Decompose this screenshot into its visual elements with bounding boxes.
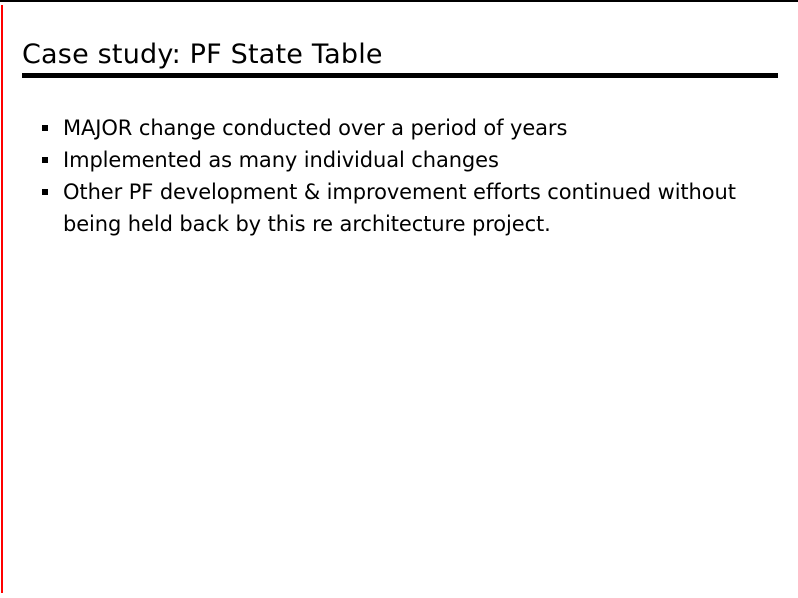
square-bullet-icon bbox=[42, 125, 48, 131]
list-item-label: MAJOR change conducted over a period of … bbox=[63, 112, 752, 144]
list-item: Other PF development & improvement effor… bbox=[42, 176, 752, 240]
title-underline-rule bbox=[22, 73, 778, 78]
left-red-accent-bar bbox=[1, 5, 3, 593]
title-block: Case study: PF State Table bbox=[22, 38, 778, 72]
slide-canvas: Case study: PF State Table MAJOR change … bbox=[0, 0, 798, 598]
top-border-rule bbox=[0, 0, 798, 2]
body-content: MAJOR change conducted over a period of … bbox=[42, 112, 752, 240]
square-bullet-icon bbox=[42, 189, 48, 195]
page-title: Case study: PF State Table bbox=[22, 38, 778, 72]
list-item: Implemented as many individual changes bbox=[42, 144, 752, 176]
list-item-label: Implemented as many individual changes bbox=[63, 144, 752, 176]
square-bullet-icon bbox=[42, 157, 48, 163]
list-item-label: Other PF development & improvement effor… bbox=[63, 176, 752, 240]
list-item: MAJOR change conducted over a period of … bbox=[42, 112, 752, 144]
bullet-list: MAJOR change conducted over a period of … bbox=[42, 112, 752, 240]
